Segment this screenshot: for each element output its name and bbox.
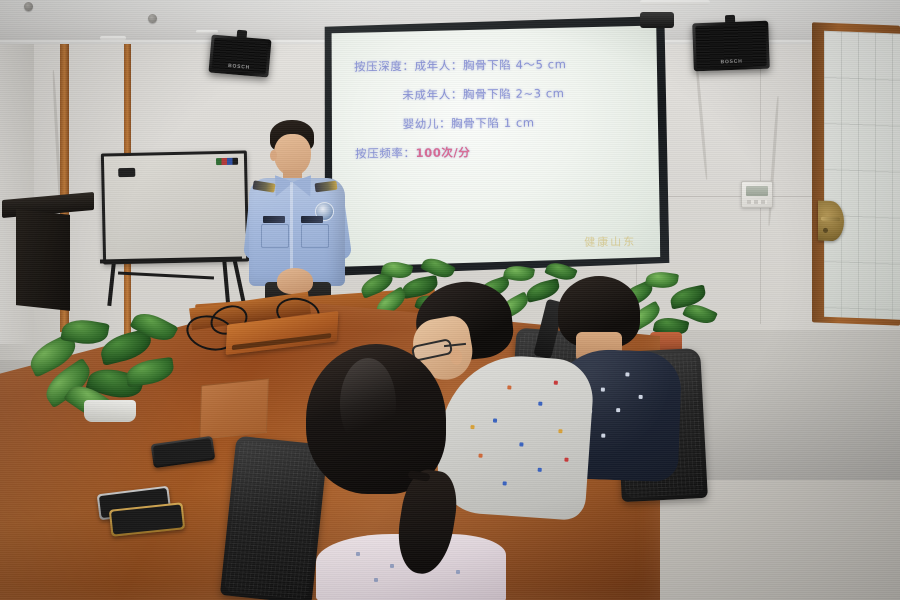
shirt-dot xyxy=(639,395,643,399)
glass-door[interactable] xyxy=(812,22,900,325)
whiteboard-markers[interactable] xyxy=(216,158,238,165)
thermostat-buttons[interactable] xyxy=(747,200,767,204)
presenter-nametag-right xyxy=(301,216,323,223)
frequency-value: 100次/分 xyxy=(415,145,470,160)
whiteboard-easel xyxy=(96,146,248,306)
presenter-ear xyxy=(270,150,277,161)
sprinkler-icon xyxy=(148,14,157,23)
door-handle-lever-icon[interactable] xyxy=(821,217,840,222)
presenter-pocket-left xyxy=(261,224,289,248)
ceiling-projector-mount xyxy=(640,12,674,28)
potted-plant-left xyxy=(22,312,190,422)
whiteboard-surface xyxy=(101,150,249,264)
shirt-dot xyxy=(538,402,542,406)
shirt-dot xyxy=(616,408,620,412)
slide-line-frequency: 按压频率：100次/分 xyxy=(355,142,643,162)
frequency-label: 按压频率： xyxy=(355,146,416,161)
shirt-dot xyxy=(564,458,568,462)
shirt-dot xyxy=(538,468,542,472)
wall-speaker-left: BOSCH xyxy=(208,34,271,77)
slide-line-minor: 未成年人：胸骨下陷 2~3 cm xyxy=(354,84,642,104)
door-keyhole-icon xyxy=(823,228,828,233)
floral-dot xyxy=(456,570,460,574)
slide-line-infant: 婴幼儿：胸骨下陷 1 cm xyxy=(355,113,643,133)
floral-dot xyxy=(390,564,394,568)
slide-watermark: 健康山东 xyxy=(584,233,636,250)
door-frosted-glass xyxy=(824,31,900,320)
thermostat-display xyxy=(746,186,768,196)
slide-content: 按压深度：成年人：胸骨下陷 4～5 cm 未成年人：胸骨下陷 2~3 cm 婴幼… xyxy=(330,25,661,267)
presenter-hands xyxy=(277,268,313,294)
paper-card-on-table[interactable] xyxy=(199,378,269,440)
shirt-dot xyxy=(625,372,629,376)
shirt-dot xyxy=(558,429,562,433)
plant-leaf xyxy=(125,357,176,387)
presenter-pocket-right xyxy=(301,224,329,248)
speaker-enclosure: BOSCH xyxy=(692,21,770,72)
floral-dot xyxy=(356,552,360,556)
floral-dot xyxy=(374,578,378,582)
speaker-enclosure: BOSCH xyxy=(208,34,271,77)
sprinkler-icon xyxy=(24,2,33,11)
shirt-dot xyxy=(519,442,523,446)
ceiling-light xyxy=(100,36,126,40)
attendee-ponytail xyxy=(296,344,506,600)
projection-screen: 按压深度：成年人：胸骨下陷 4～5 cm 未成年人：胸骨下陷 2~3 cm 婴幼… xyxy=(320,16,669,276)
shirt-dot xyxy=(601,388,605,392)
slide-line-depth: 按压深度：成年人：胸骨下陷 4～5 cm xyxy=(354,55,642,75)
presenter xyxy=(243,120,351,310)
ceiling-light xyxy=(640,0,710,5)
ac-thermostat[interactable] xyxy=(741,181,773,208)
lectern xyxy=(2,196,94,314)
shirt-dot xyxy=(507,385,511,389)
lectern-body xyxy=(16,209,70,311)
shirt-dot xyxy=(601,434,605,438)
presenter-shirt-placket xyxy=(290,182,293,278)
phone-screen xyxy=(111,504,183,534)
hair-highlight xyxy=(340,358,396,450)
meeting-room-photo: BOSCH BOSCH 按压深度：成年人：胸骨下陷 4～5 cm 未成年人：胸骨… xyxy=(0,0,900,600)
plant-pot xyxy=(84,400,136,422)
screen-surface: 按压深度：成年人：胸骨下陷 4～5 cm 未成年人：胸骨下陷 2~3 cm 婴幼… xyxy=(330,25,661,267)
easel-crossbar xyxy=(118,271,214,279)
wall-speaker-right: BOSCH xyxy=(692,21,770,72)
shirt-dot xyxy=(554,381,558,385)
whiteboard-eraser[interactable] xyxy=(118,168,135,177)
presenter-nametag-left xyxy=(263,216,285,223)
ceiling-light xyxy=(196,30,218,33)
